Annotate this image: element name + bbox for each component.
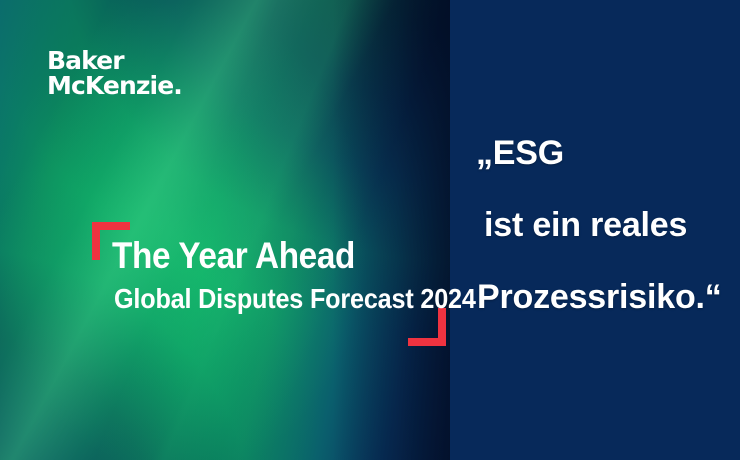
page-title: The Year Ahead (112, 236, 355, 276)
page-subtitle: Global Disputes Forecast 2024 (114, 284, 476, 314)
baker-mckenzie-logo: Baker McKenzie. (47, 48, 182, 98)
title-block: The Year Ahead Global Disputes Forecast … (92, 222, 452, 346)
quote-line-1: „ESG (476, 134, 564, 172)
quote-line-3: Prozessrisiko.“ (477, 278, 722, 316)
promo-slide: „ESG ist ein reales Prozessrisiko.“ Bake… (0, 0, 740, 460)
quote-text-block: „ESG ist ein reales Prozessrisiko.“ (450, 0, 740, 460)
quote-panel: „ESG ist ein reales Prozessrisiko.“ (450, 0, 740, 460)
logo-line-2: McKenzie. (47, 73, 182, 98)
quote-line-2: ist ein reales (484, 206, 687, 244)
